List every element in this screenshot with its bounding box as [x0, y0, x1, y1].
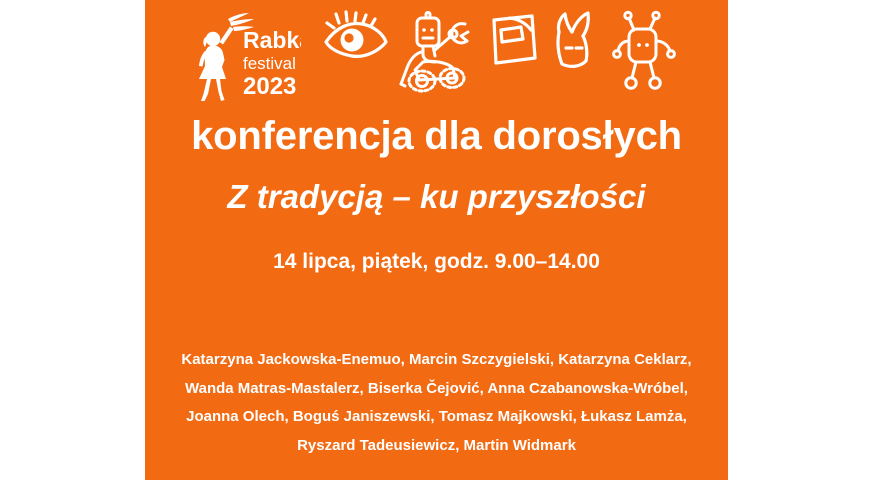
poster-header: Rabka festival 2023 — [145, 0, 728, 108]
orange-poster-panel: Rabka festival 2023 — [145, 0, 728, 480]
logo-text-festival: festival — [243, 54, 296, 73]
eye-icon — [322, 10, 390, 66]
speakers-list: Katarzyna Jackowska-Enemuo, Marcin Szczy… — [145, 346, 728, 460]
rabka-festival-logo: Rabka festival 2023 — [183, 6, 301, 101]
speakers-line: Wanda Matras-Mastalerz, Biserka Čejović,… — [145, 375, 728, 404]
robot-vehicle-icon — [395, 10, 477, 96]
icon-strip — [320, 10, 720, 100]
conference-subtitle: Z tradycją – ku przyszłości — [145, 176, 728, 218]
logo-girl-silhouette — [199, 27, 234, 102]
poster-root: Rabka festival 2023 — [0, 0, 880, 480]
speakers-line: Ryszard Tadeusiewicz, Martin Widmark — [145, 432, 728, 461]
speakers-line: Katarzyna Jackowska-Enemuo, Marcin Szczy… — [145, 346, 728, 375]
conference-datetime: 14 lipca, piątek, godz. 9.00–14.00 — [145, 248, 728, 276]
android-robot-icon — [612, 10, 678, 96]
bunny-icon — [552, 10, 600, 72]
conference-headline: konferencja dla dorosłych — [145, 112, 728, 160]
logo-text-rabka: Rabka — [243, 27, 301, 53]
logo-text-year: 2023 — [243, 73, 296, 100]
speakers-line: Joanna Olech, Boguś Janiszewski, Tomasz … — [145, 403, 728, 432]
open-book-icon — [488, 10, 540, 68]
